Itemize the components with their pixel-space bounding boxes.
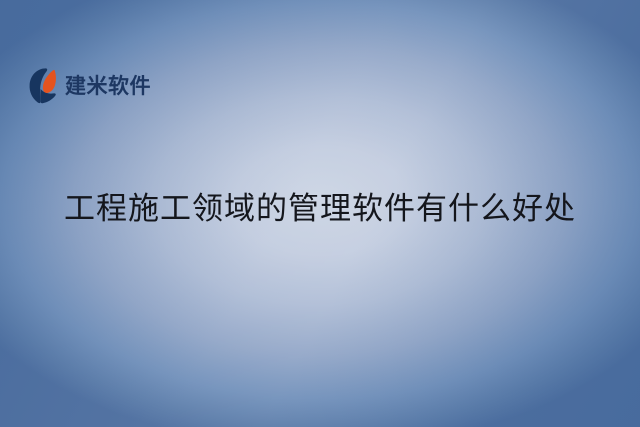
brand-logo[interactable]: 建米软件 [29, 68, 151, 104]
brand-name-text: 建米软件 [65, 76, 151, 97]
headline-title: 工程施工领域的管理软件有什么好处 [0, 188, 640, 230]
jianmi-logo-mark-icon [29, 68, 60, 104]
promo-banner: 建米软件 工程施工领域的管理软件有什么好处 [0, 0, 640, 427]
